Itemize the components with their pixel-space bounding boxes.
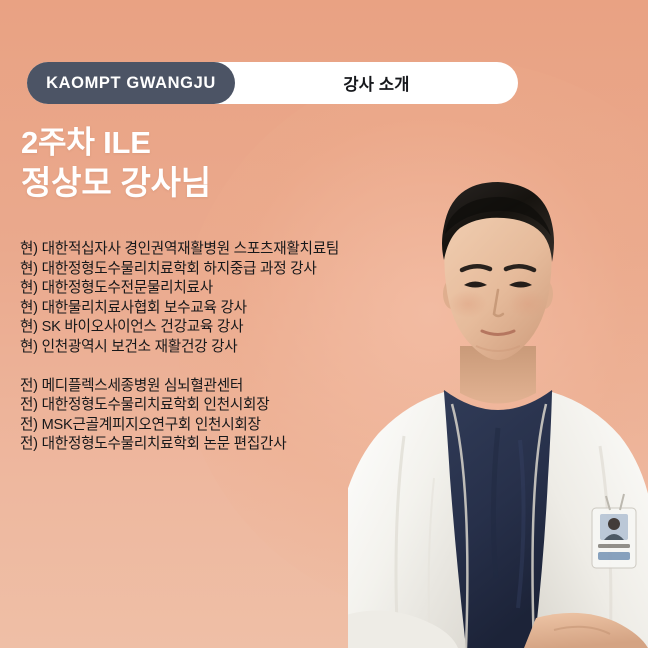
lecturer-intro-card: 강사 소개 KAOMPT GWANGJU 2주차 ILE 정상모 강사님 현) … <box>0 0 648 648</box>
list-item: 전) 대한정형도수물리치료학회 논문 편집간사 <box>20 435 450 455</box>
list-item: 현) 대한물리치료사협회 보수교육 강사 <box>20 299 450 319</box>
page-title: 2주차 ILE 정상모 강사님 <box>21 124 211 204</box>
section-label: 강사 소개 <box>235 62 518 104</box>
brand-pill[interactable]: KAOMPT GWANGJU <box>27 62 235 104</box>
list-item: 전) 메디플렉스세종병원 심뇌혈관센터 <box>20 377 450 397</box>
list-item: 현) 대한정형도수물리치료학회 하지중급 과정 강사 <box>20 260 450 280</box>
list-item: 현) 대한적십자사 경인권역재활병원 스포츠재활치료팀 <box>20 240 450 260</box>
list-item: 현) 인천광역시 보건소 재활건강 강사 <box>20 338 450 358</box>
list-item: 전) MSK근골계피지오연구회 인천시회장 <box>20 416 450 436</box>
header-bar: 강사 소개 KAOMPT GWANGJU <box>27 62 518 104</box>
title-line-1: 2주차 ILE <box>21 124 211 162</box>
list-item: 현) SK 바이오사이언스 건강교육 강사 <box>20 318 450 338</box>
portrait-head <box>442 182 554 360</box>
list-item: 전) 대한정형도수물리치료학회 인천시회장 <box>20 396 450 416</box>
brand-label: KAOMPT GWANGJU <box>46 74 216 93</box>
title-line-2: 정상모 강사님 <box>21 162 211 204</box>
credentials-current-list: 현) 대한적십자사 경인권역재활병원 스포츠재활치료팀 현) 대한정형도수물리치… <box>20 240 450 358</box>
credentials-former-list: 전) 메디플렉스세종병원 심뇌혈관센터 전) 대한정형도수물리치료학회 인천시회… <box>20 377 450 455</box>
list-item: 현) 대한정형도수전문물리치료사 <box>20 279 450 299</box>
credentials: 현) 대한적십자사 경인권역재활병원 스포츠재활치료팀 현) 대한정형도수물리치… <box>20 240 450 455</box>
